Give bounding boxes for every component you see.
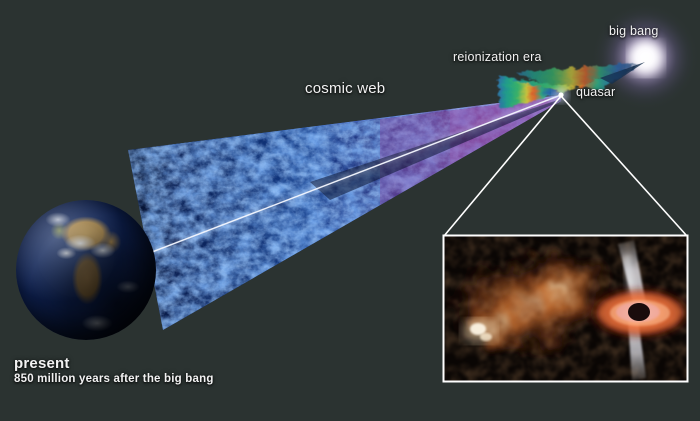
inset-svg [0, 0, 700, 421]
nebula-bright-knot [462, 319, 496, 343]
figure-canvas: cosmic web reionization era quasar big b… [0, 0, 700, 421]
inset-content [444, 236, 695, 381]
black-hole-shadow [628, 303, 650, 321]
